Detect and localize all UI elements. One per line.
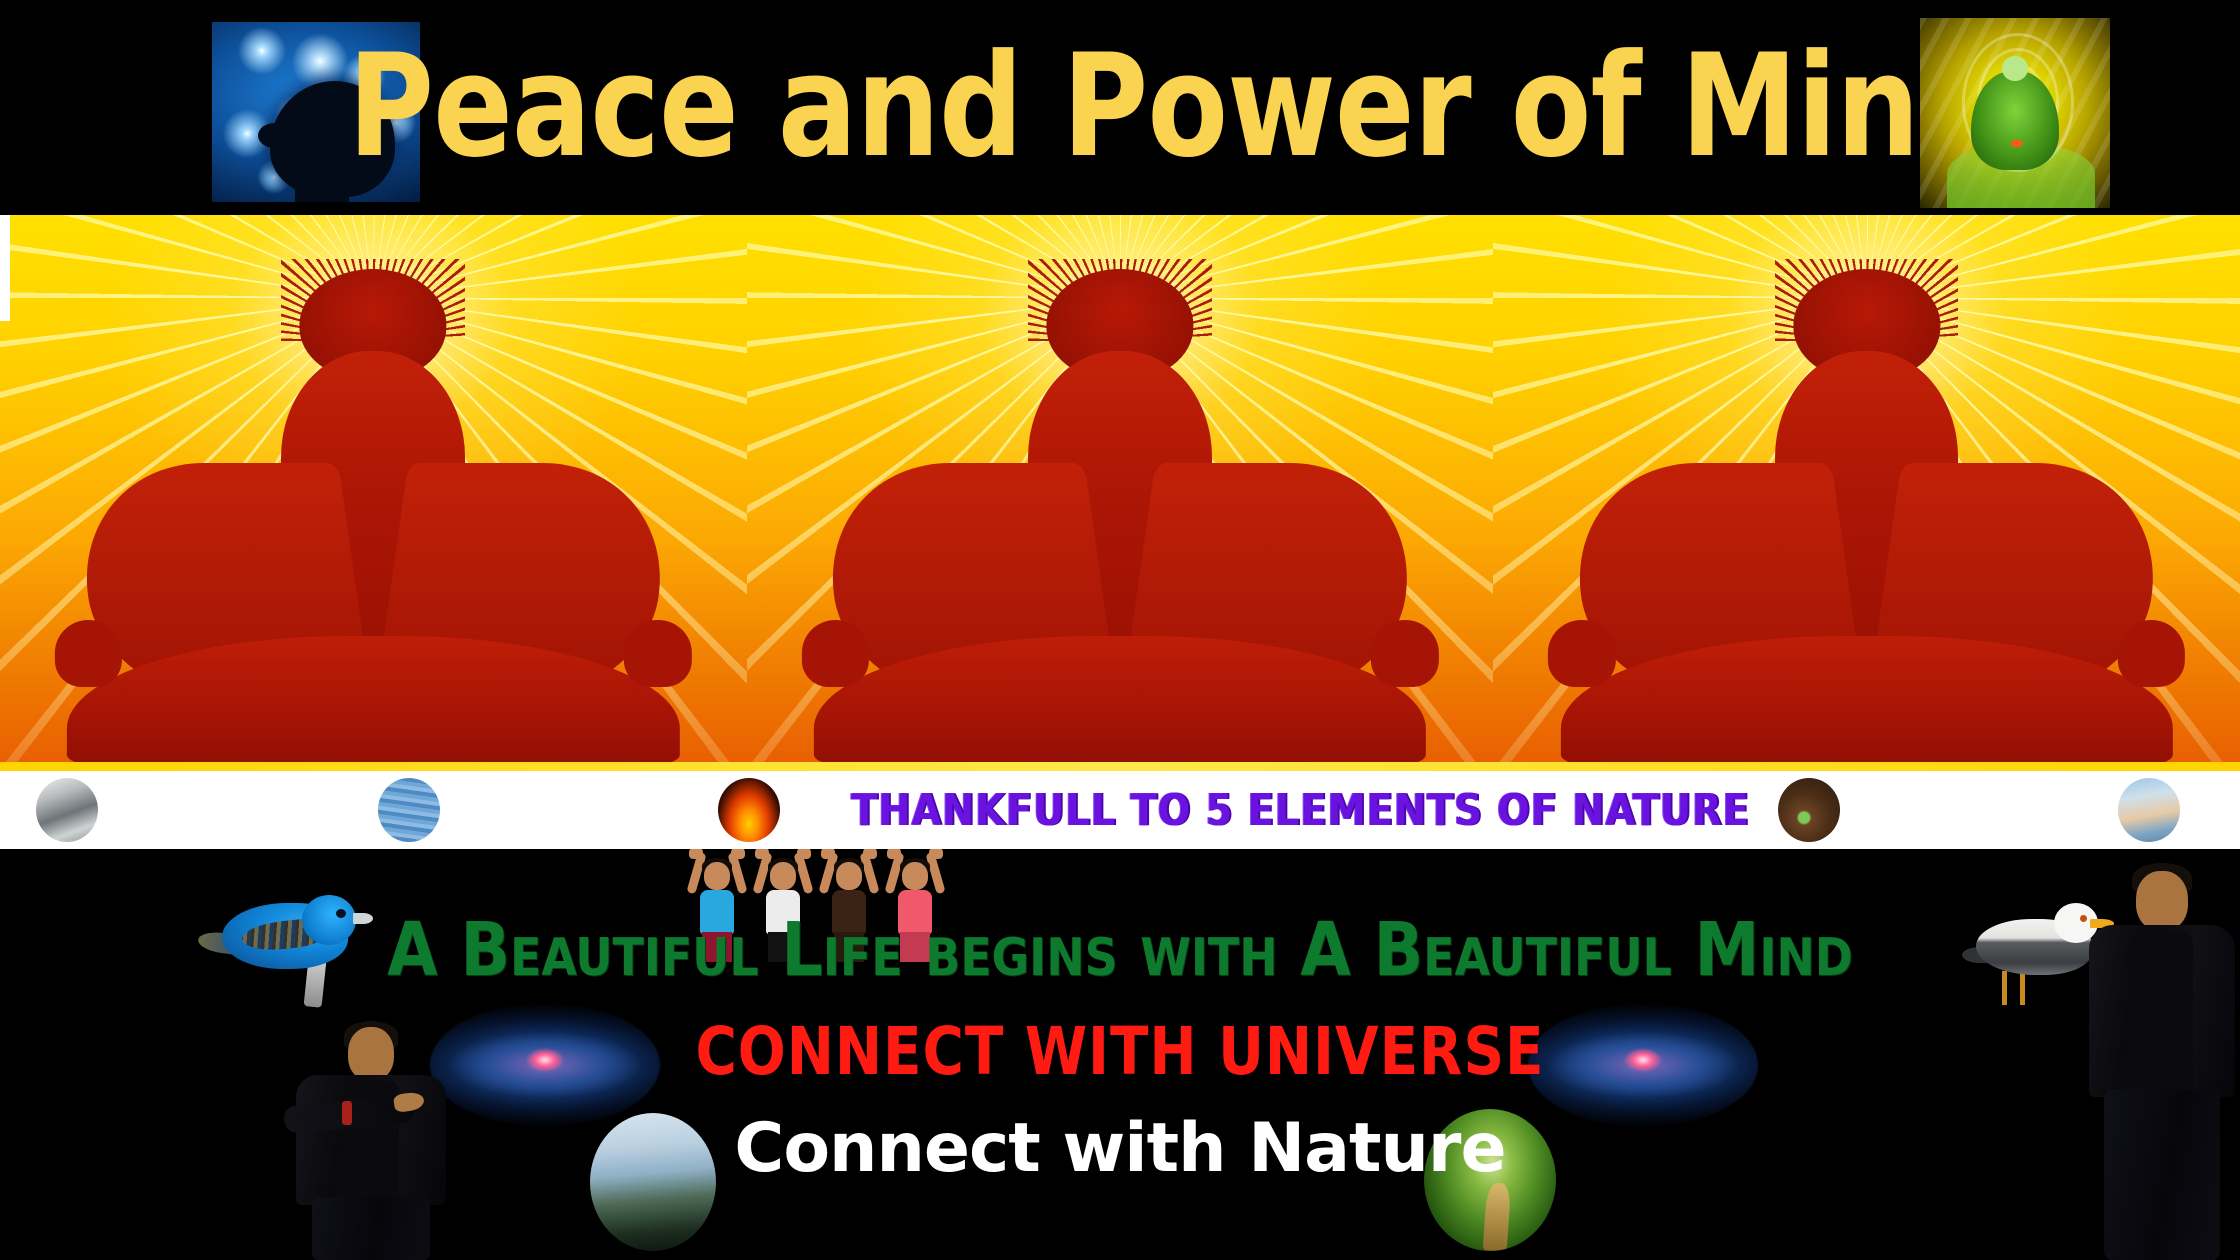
fire-element-icon	[718, 778, 780, 842]
page-header: Peace and Power of Mind	[0, 0, 2240, 215]
meditation-panel	[747, 215, 1494, 768]
meditation-aura-icon	[1920, 18, 2110, 208]
air-element-icon	[36, 778, 98, 842]
five-elements-text: THANKFULL TO 5 ELEMENTS OF NATURE	[851, 785, 1695, 836]
tagline-beautiful-life: A Beautiful Life begins with A Beautiful…	[22, 907, 2217, 993]
sky-element-icon	[2118, 778, 2180, 842]
banner-underline	[0, 762, 2240, 771]
meditation-panel	[0, 215, 747, 768]
meditating-silhouette	[1561, 259, 2173, 768]
left-edge-sliver	[0, 215, 10, 321]
lower-section: A Beautiful Life begins with A Beautiful…	[0, 849, 2240, 1260]
meditating-silhouette	[814, 259, 1426, 768]
tagline-connect-nature: Connect with Nature	[0, 1109, 2240, 1188]
tagline-connect-universe: CONNECT WITH UNIVERSE	[56, 1013, 2184, 1090]
earth-element-icon	[1778, 778, 1840, 842]
five-elements-strip: THANKFULL TO 5 ELEMENTS OF NATURE	[0, 771, 2240, 849]
meditation-banner	[0, 215, 2240, 768]
banner-page: Peace and Power of Mind	[0, 0, 2240, 1260]
meditating-silhouette	[67, 259, 679, 768]
water-element-icon	[378, 778, 440, 842]
page-title: Peace and Power of Mind	[513, 26, 1838, 188]
meditation-panel	[1493, 215, 2240, 768]
